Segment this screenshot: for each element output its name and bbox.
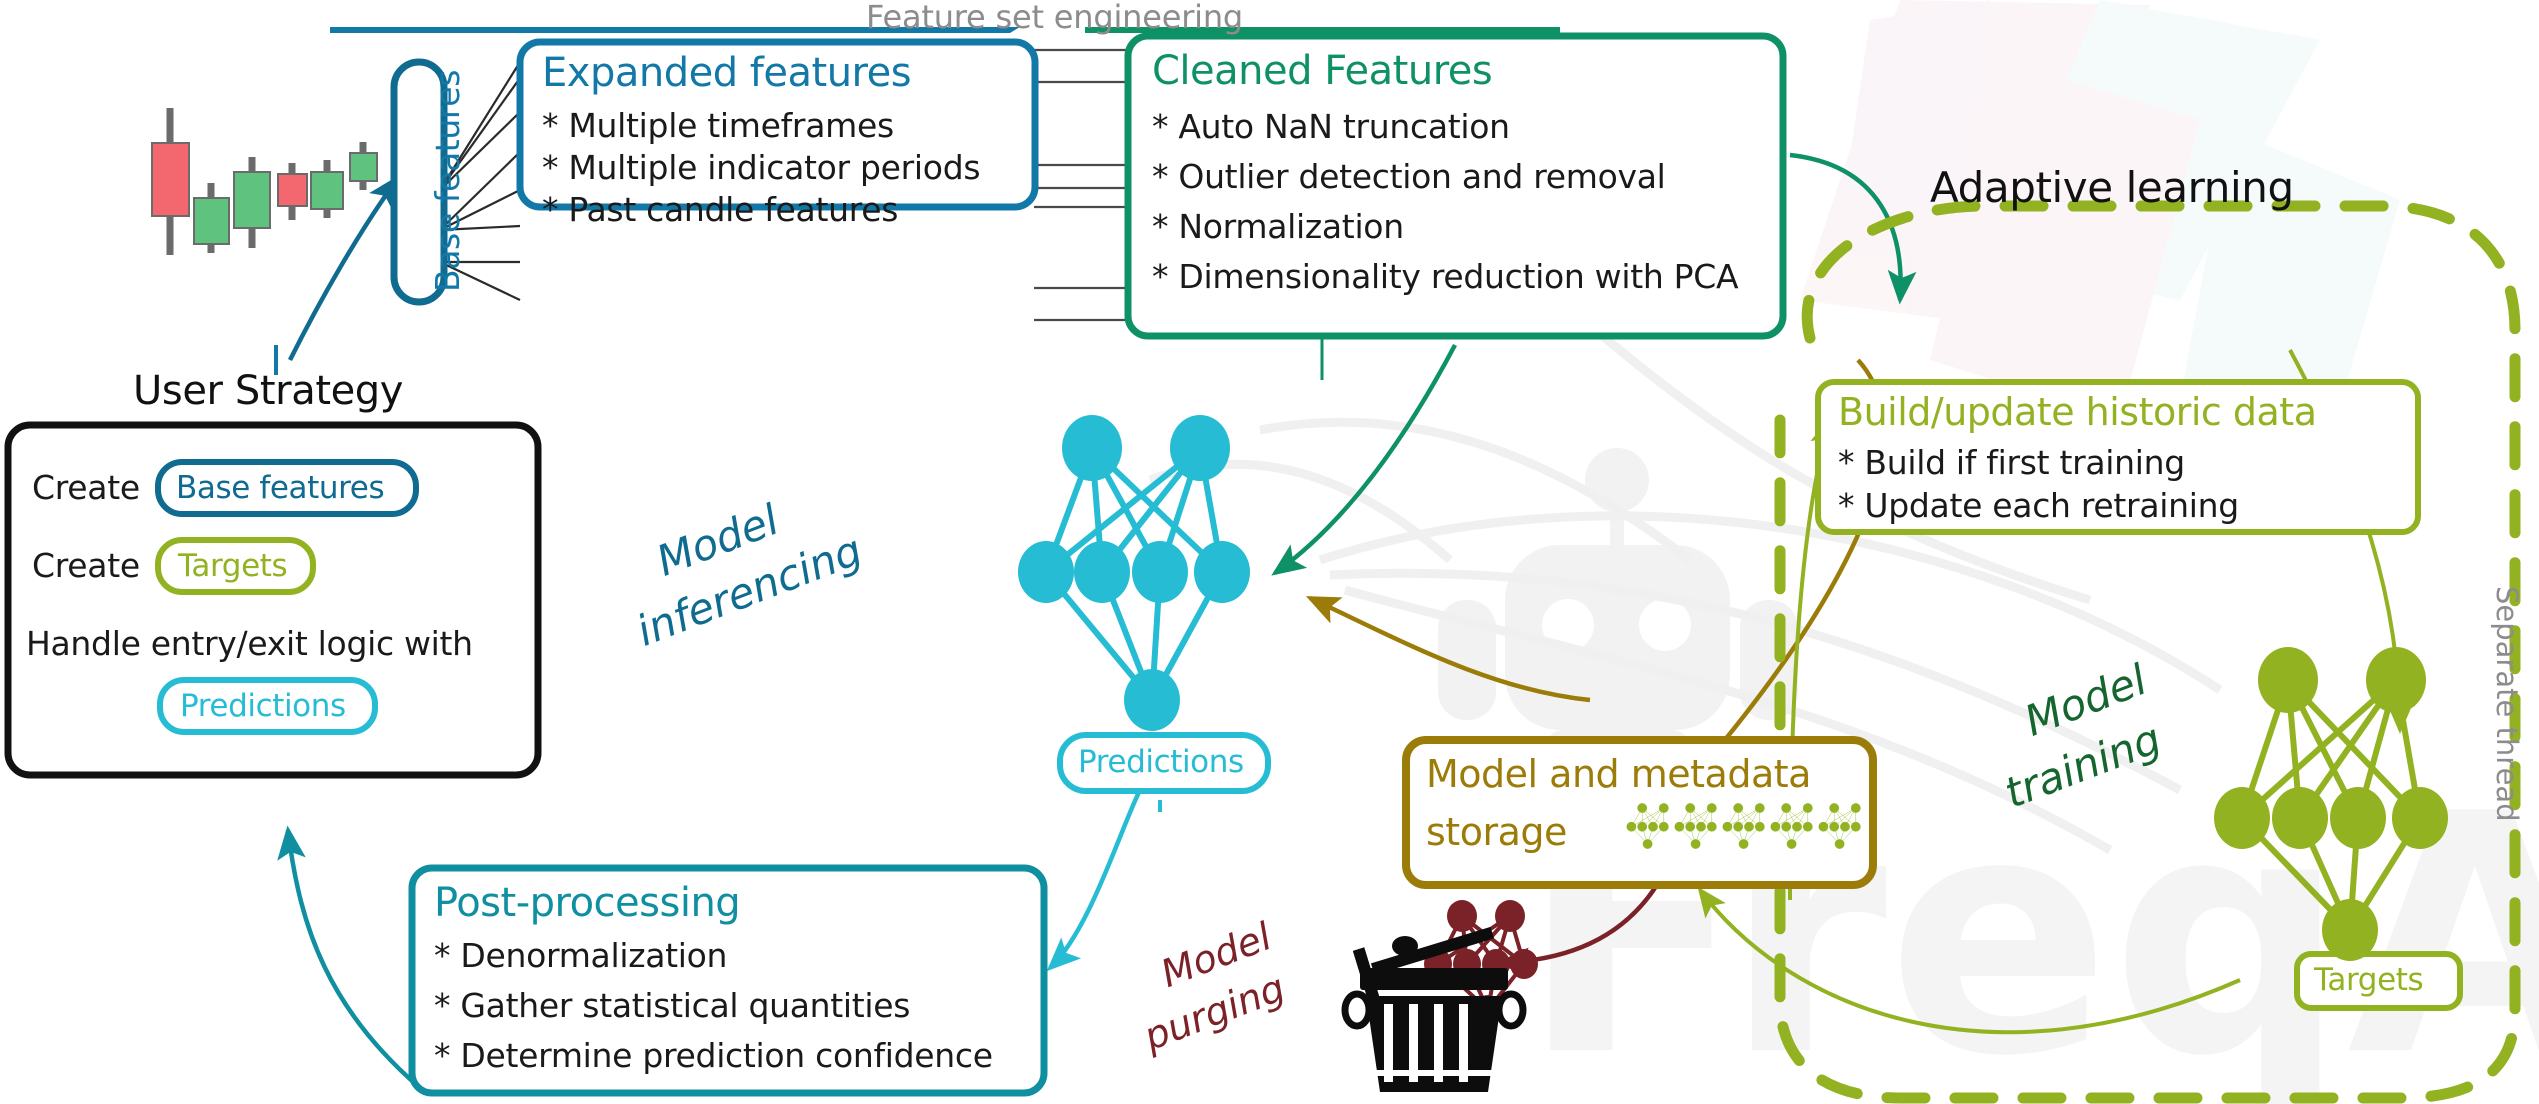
post-processing-bullet-3: * Determine prediction confidence: [434, 1036, 993, 1075]
base-features-tag-strategy-label: Base features: [176, 470, 384, 506]
candlestick-chart: [152, 108, 377, 255]
build-update-title: Build/update historic data: [1838, 390, 2317, 434]
feature-set-engineering-label: Feature set engineering: [866, 0, 1243, 36]
cleaned-features-bullet-2: * Outlier detection and removal: [1152, 157, 1666, 196]
candle-up-3: [234, 157, 270, 248]
expanded-features-bullet-1: * Multiple timeframes: [542, 106, 894, 145]
training-neural-network: [2214, 647, 2448, 961]
model-storage-line-1: Model and metadata: [1426, 752, 1811, 796]
cleaned-features-bullet-3: * Normalization: [1152, 207, 1404, 246]
candle-down-1: [152, 108, 189, 255]
user-strategy-create-label-2: Create: [32, 546, 140, 585]
diagram-canvas: FreqAI: [0, 0, 2539, 1104]
targets-tag-strategy-label: Targets: [178, 548, 287, 584]
targets-tag-training-label: Targets: [2314, 962, 2423, 998]
cleaned-features-title: Cleaned Features: [1152, 48, 1492, 94]
cleaned-features-bullet-1: * Auto NaN truncation: [1152, 107, 1510, 146]
base-features-tag-label: Base features: [428, 70, 467, 292]
post-processing-title: Post-processing: [434, 880, 740, 926]
expanded-features-bullet-2: * Multiple indicator periods: [542, 148, 980, 187]
expanded-features-title: Expanded features: [542, 50, 911, 96]
candle-down-4: [278, 163, 307, 220]
predictions-tag-model-label: Predictions: [1078, 744, 1244, 780]
build-update-bullet-1: * Build if first training: [1838, 443, 2185, 482]
expanded-features-bullet-3: * Past candle features: [542, 190, 898, 229]
user-strategy-entry-exit-line: Handle entry/exit logic with: [26, 624, 473, 663]
cleaned-features-bullet-4: * Dimensionality reduction with PCA: [1152, 257, 1738, 296]
post-processing-bullet-2: * Gather statistical quantities: [434, 986, 910, 1025]
build-update-bullet-2: * Update each retraining: [1838, 486, 2239, 525]
inference-neural-network: [1018, 415, 1250, 731]
candle-up-5: [311, 160, 343, 218]
post-processing-bullet-1: * Denormalization: [434, 936, 727, 975]
candle-up-2: [194, 183, 229, 253]
candle-up-6: [350, 142, 377, 190]
user-strategy-heading: User Strategy: [133, 368, 403, 414]
adaptive-learning-label: Adaptive learning: [1930, 163, 2294, 212]
separate-thread-label: Separate thread: [2490, 586, 2524, 822]
predictions-tag-strategy-label: Predictions: [180, 688, 346, 724]
model-storage-line-2: storage: [1426, 810, 1567, 854]
user-strategy-create-label-1: Create: [32, 468, 140, 507]
